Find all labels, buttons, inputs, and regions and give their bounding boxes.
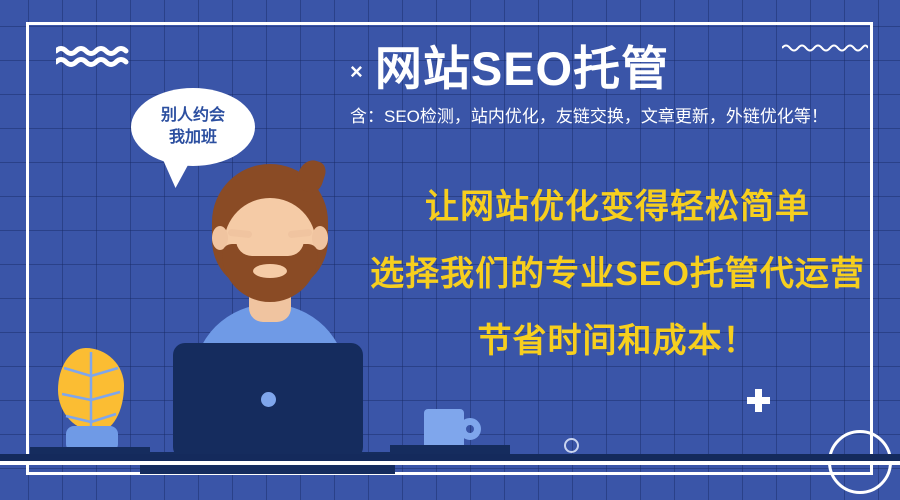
slogan-line-2: 选择我们的专业SEO托管代运营	[340, 257, 895, 291]
laptop-logo-icon	[261, 392, 276, 407]
plant-leaf-veins	[58, 348, 124, 432]
circle-outline-icon	[564, 438, 579, 453]
headline-block: × 网站SEO托管 含：SEO检测，站内优化，友链交换，文章更新，外链优化等！	[350, 44, 890, 128]
speech-bubble-line-1: 别人约会	[161, 105, 225, 127]
speech-bubble-line-2: 我加班	[169, 127, 217, 149]
plant-illustration	[58, 348, 128, 454]
slogan-block: 让网站优化变得轻松简单 选择我们的专业SEO托管代运营 节省时间和成本！	[340, 190, 895, 358]
seo-banner: × 网站SEO托管 含：SEO检测，站内优化，友链交换，文章更新，外链优化等！ …	[0, 0, 900, 500]
slogan-line-3: 节省时间和成本！	[340, 324, 895, 358]
slogan-line-1: 让网站优化变得轻松简单	[340, 190, 895, 224]
speech-bubble: 别人约会 我加班	[131, 88, 255, 166]
person-mouth	[253, 264, 287, 278]
desk-edge-highlight	[0, 461, 900, 465]
person-beard-notch	[236, 240, 304, 256]
wave-lines-icon	[56, 46, 130, 68]
plus-icon	[747, 389, 770, 412]
subtitle: 含：SEO检测，站内优化，友链交换，文章更新，外链优化等！	[350, 107, 890, 127]
title-row: × 网站SEO托管	[350, 44, 890, 93]
x-mark-icon: ×	[350, 61, 363, 83]
page-title: 网站SEO托管	[375, 44, 669, 93]
